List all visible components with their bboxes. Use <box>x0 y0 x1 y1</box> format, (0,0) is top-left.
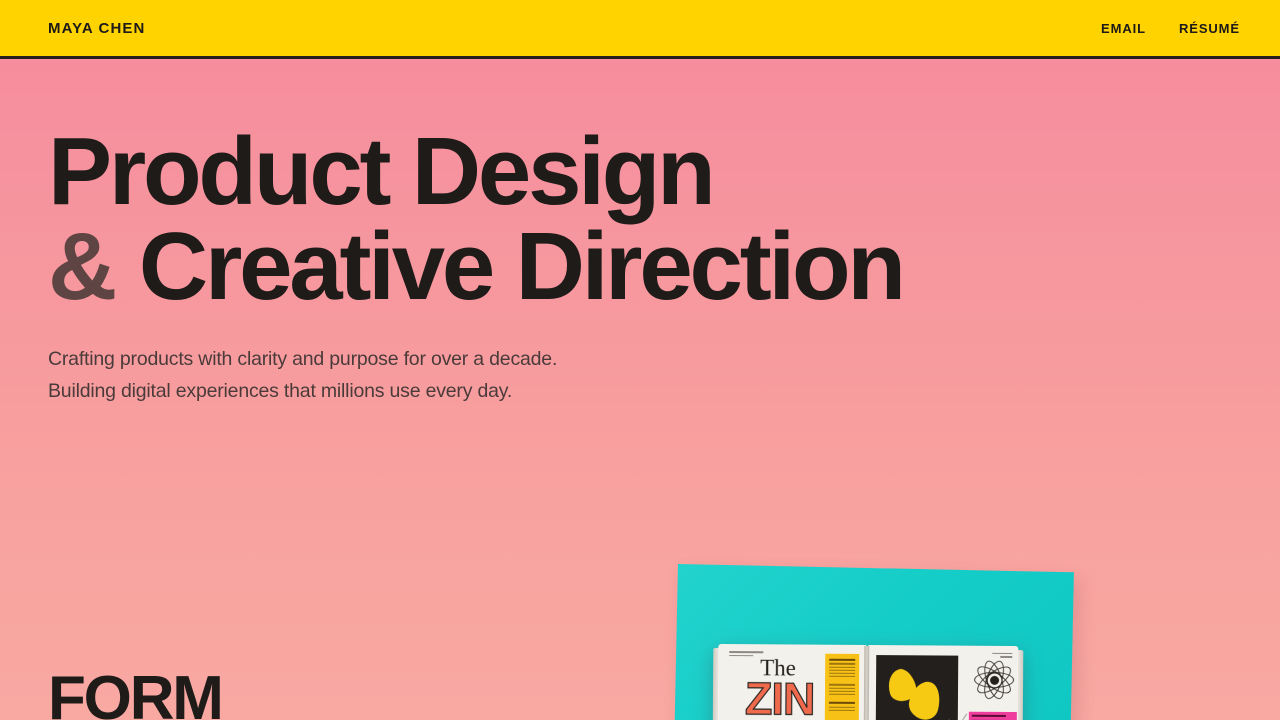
section-heading-form: FORM <box>48 668 222 720</box>
magazine-pink-note <box>969 712 1017 720</box>
hero-subtitle: Crafting products with clarity and purpo… <box>48 344 903 408</box>
magazine-left-page: The ZIN <box>718 644 867 720</box>
nav-link-email[interactable]: EMAIL <box>1101 21 1146 36</box>
hero-ampersand: & <box>48 213 115 320</box>
pencil-sketch-icon <box>936 709 970 720</box>
kicker-lines <box>729 651 763 658</box>
hero-section: Product Design & Creative Direction Craf… <box>48 124 903 408</box>
magazine-spine <box>864 646 870 720</box>
portfolio-page: MAYA CHEN EMAIL RÉSUMÉ Product Design & … <box>0 0 1280 720</box>
nav-link-resume[interactable]: RÉSUMÉ <box>1179 21 1240 36</box>
magazine-right-page <box>868 645 1019 720</box>
hero-subtitle-line-2: Building digital experiences that millio… <box>48 380 512 402</box>
page-title: Product Design & Creative Direction <box>48 124 903 314</box>
open-magazine: The ZIN <box>718 644 1019 720</box>
hero-title-line-1: Product Design <box>48 124 903 219</box>
magazine-zin-word: ZIN <box>745 676 815 720</box>
primary-nav: EMAIL RÉSUMÉ <box>1101 21 1240 36</box>
hero-subtitle-line-1: Crafting products with clarity and purpo… <box>48 348 557 370</box>
brand-logo[interactable]: MAYA CHEN <box>48 20 145 37</box>
hero-title-line-2-text: Creative Direction <box>139 213 903 320</box>
atom-diagram-icon <box>972 658 1016 702</box>
site-header: MAYA CHEN EMAIL RÉSUMÉ <box>0 0 1280 59</box>
hero-title-line-2: & Creative Direction <box>48 219 903 314</box>
magazine-photo: The ZIN <box>650 548 1120 720</box>
magazine-yellow-sidebar <box>825 654 860 720</box>
